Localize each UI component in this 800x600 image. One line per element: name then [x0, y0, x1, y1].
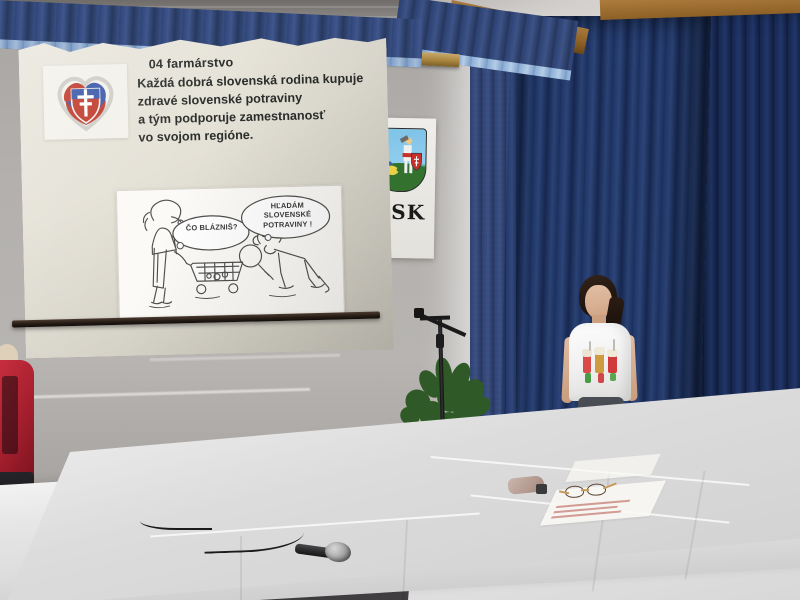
slide-body: Každá dobrá slovenská rodina kupuje zdra…: [137, 70, 377, 147]
photo-scene: NSK 04 farmárstvo Ka: [0, 0, 800, 600]
eyeglasses[interactable]: [565, 483, 614, 497]
cartoon-bubble-left: ČO BLÁZNIŠ?: [176, 222, 248, 233]
microphone-cable-far: [140, 512, 212, 530]
presenter-tshirt: [569, 323, 631, 401]
projection-screen: 04 farmárstvo Každá dobrá slovenská rodi…: [18, 32, 394, 359]
microphone-stand-clip: [436, 334, 444, 348]
pouch-clip: [536, 484, 547, 494]
shopping-cartoon: ČO BLÁZNIŠ? HĽADÁM SLOVENSKÉ POTRAVINY !: [116, 185, 345, 322]
slide-title: 04 farmárstvo: [149, 55, 234, 71]
microphone-stand-top: [414, 308, 424, 318]
cartoon-bubble-right: HĽADÁM SLOVENSKÉ POTRAVINY !: [245, 200, 330, 230]
person-left-top: [0, 360, 34, 478]
slovak-heart-flag-emblem-icon: [43, 64, 129, 140]
